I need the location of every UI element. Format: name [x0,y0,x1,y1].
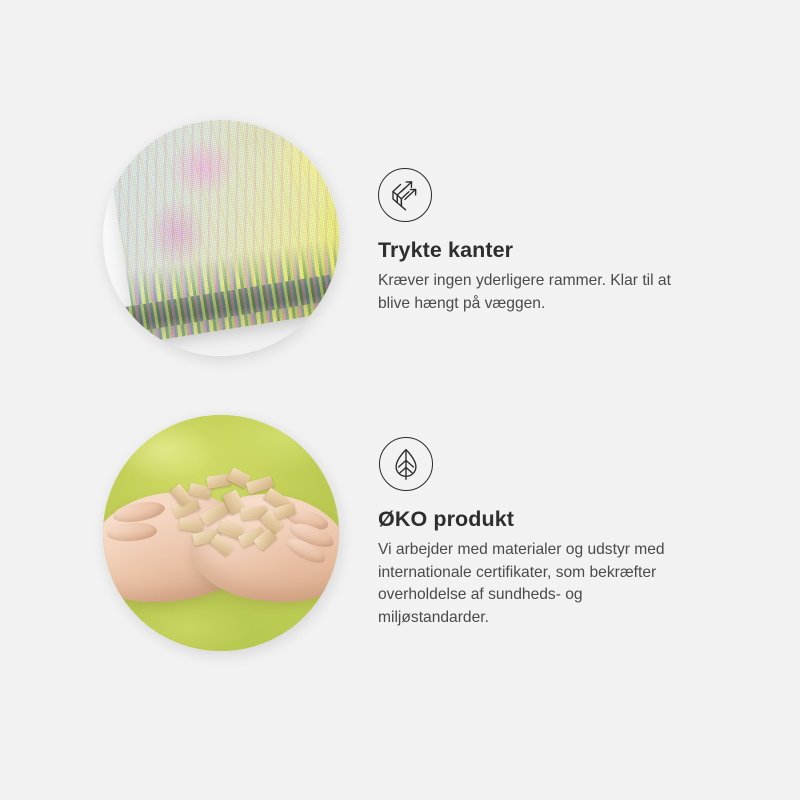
leaf-icon [379,437,433,491]
product-features-page: Trykte kanter Kræver ingen yderligere ra… [0,0,800,800]
circular-image-mask [103,415,339,651]
feature-title: ØKO produkt [378,507,514,532]
feature-description: Kræver ingen yderligere rammer. Klar til… [378,270,750,315]
photo-highlight [103,415,339,651]
feature-image-printed-edges [103,120,339,356]
circular-image-mask [103,120,339,356]
canvas-corner-photo [103,120,339,356]
feature-block-eco-product: ØKO produkt Vi arbejder med materialer o… [0,415,800,665]
feature-title: Trykte kanter [378,238,513,263]
printed-edges-icon [378,168,432,222]
eco-wood-chips-photo [103,415,339,651]
leaf-glyph [389,447,423,481]
printed-edges-glyph [388,178,422,212]
feature-description: Vi arbejder med materialer og udstyr med… [378,539,750,629]
feature-image-eco-product [103,415,339,651]
feature-block-printed-edges: Trykte kanter Kræver ingen yderligere ra… [0,120,800,390]
